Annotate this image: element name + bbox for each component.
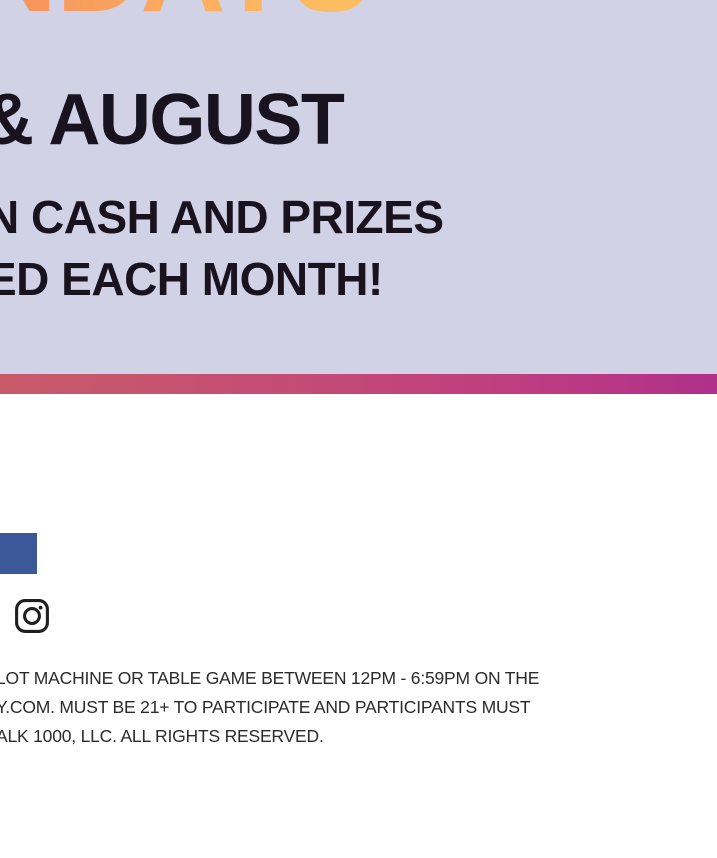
instagram-icon — [14, 598, 50, 634]
hero-subheadline: N CASH AND PRIZES ED EACH MONTH! — [0, 186, 444, 310]
hero-section: NDAYS & AUGUST N CASH AND PRIZES ED EACH… — [0, 0, 717, 374]
fine-print-line-1: LOT MACHINE OR TABLE GAME BETWEEN 12PM -… — [0, 664, 539, 693]
legal-fine-print: LOT MACHINE OR TABLE GAME BETWEEN 12PM -… — [0, 664, 539, 751]
gradient-divider — [0, 374, 717, 394]
hero-subheadline-line-2: ED EACH MONTH! — [0, 248, 444, 310]
footer-section: LOT MACHINE OR TABLE GAME BETWEEN 12PM -… — [0, 394, 717, 858]
social-links — [0, 533, 50, 658]
hero-headline: & AUGUST — [0, 84, 343, 156]
social-link-facebook[interactable] — [0, 533, 50, 574]
page-root: NDAYS & AUGUST N CASH AND PRIZES ED EACH… — [0, 0, 717, 858]
facebook-icon — [0, 533, 37, 574]
hero-kicker-text: NDAYS — [0, 0, 369, 30]
hero-subheadline-line-1: N CASH AND PRIZES — [0, 186, 444, 248]
social-link-instagram[interactable] — [0, 598, 50, 634]
fine-print-line-2: Y.COM. MUST BE 21+ TO PARTICIPATE AND PA… — [0, 693, 539, 722]
fine-print-line-3: ALK 1000, LLC. ALL RIGHTS RESERVED. — [0, 722, 539, 751]
